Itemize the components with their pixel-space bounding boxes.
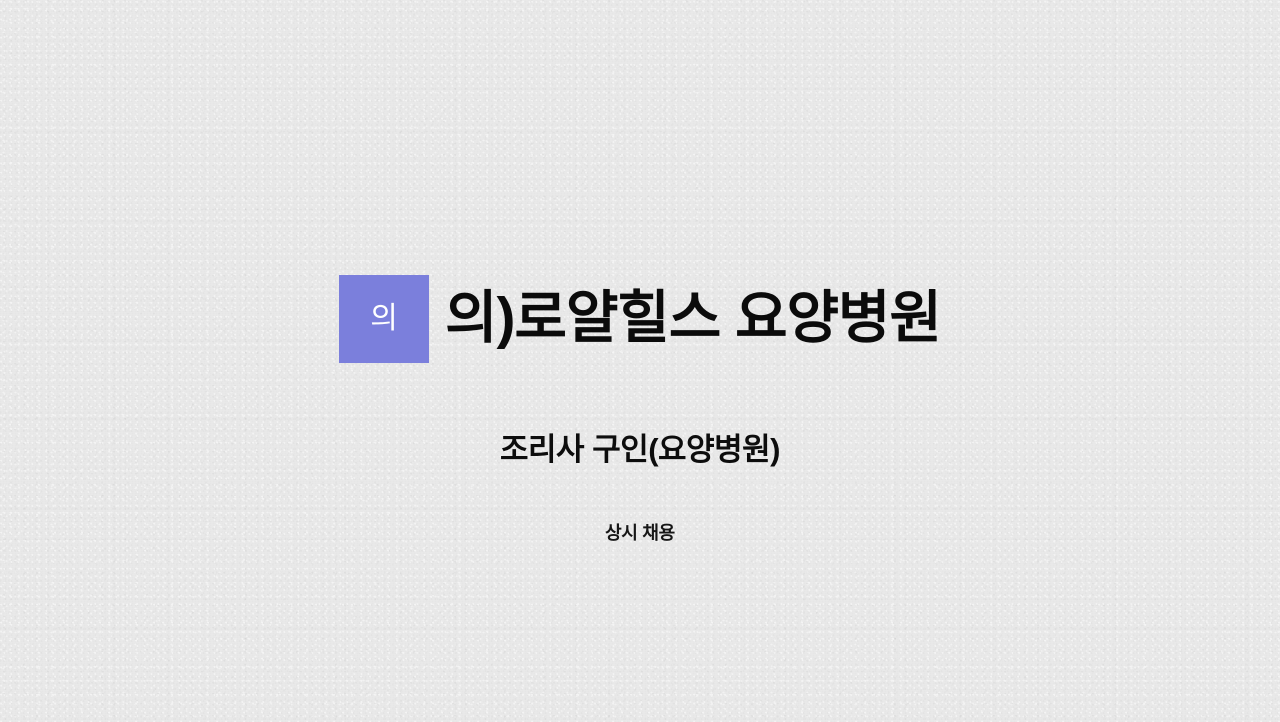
job-title: 조리사 구인(요양병원): [500, 431, 780, 468]
job-posting-banner: 의 의)로얄힐스 요양병원 조리사 구인(요양병원) 상시 채용: [0, 0, 1280, 722]
company-logo-badge: 의: [339, 275, 429, 363]
company-logo-initial: 의: [370, 304, 398, 334]
recruitment-type-label: 상시 채용: [605, 523, 675, 545]
company-header: 의 의)로얄힐스 요양병원: [339, 251, 941, 387]
banner-content: 의 의)로얄힐스 요양병원 조리사 구인(요양병원) 상시 채용: [0, 0, 1280, 544]
company-name: 의)로얄힐스 요양병원: [445, 289, 941, 348]
